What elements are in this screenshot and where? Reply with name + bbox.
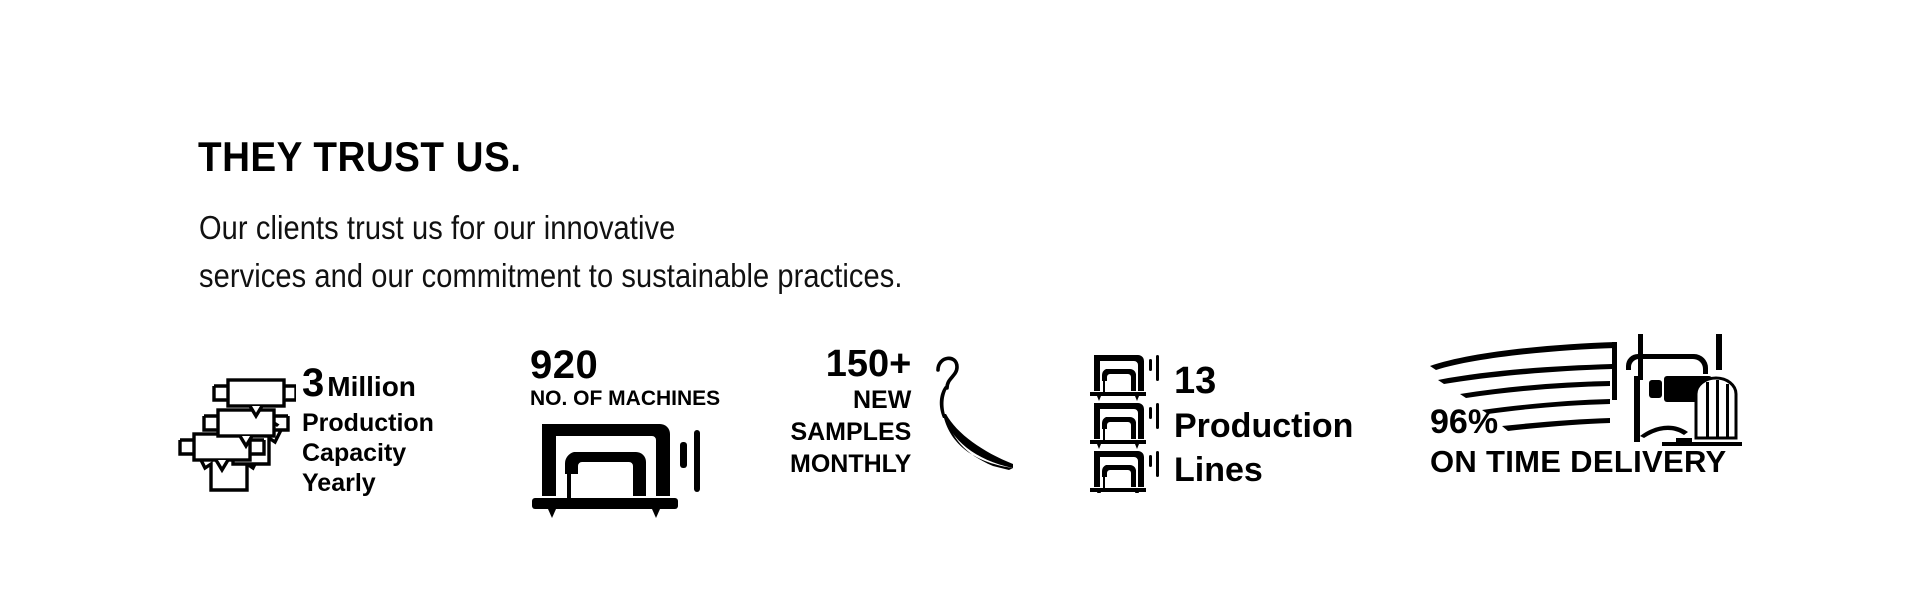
- stacked-tshirts-icon: [178, 358, 296, 503]
- stat-production-capacity-label-1: Production: [302, 408, 434, 438]
- clothes-hanger-icon: [905, 348, 1015, 478]
- stat-production-lines-label-2: Lines: [1174, 448, 1353, 492]
- stat-on-time-delivery: 96% ON TIME DELIVERY: [1430, 350, 1740, 510]
- stat-new-samples-monthly-value: 150+: [790, 344, 911, 384]
- stat-number-of-machines: 920 NO. OF MACHINES: [530, 344, 720, 504]
- stat-production-lines-value: 13: [1174, 358, 1353, 404]
- subcopy-line-2: services and our commitment to sustainab…: [199, 252, 903, 300]
- stat-on-time-delivery-text: 96% ON TIME DELIVERY: [1430, 402, 1726, 482]
- stat-number-of-machines-value: 920: [530, 344, 598, 386]
- stat-production-capacity-value: 3: [302, 361, 324, 405]
- stat-production-capacity-label-2: Capacity: [302, 438, 434, 468]
- stat-production-capacity-text: 3Million Production Capacity Yearly: [302, 362, 434, 498]
- sewing-machine-outline-icon: [1090, 353, 1162, 498]
- stats-strip: 3Million Production Capacity Yearly 920 …: [0, 350, 1920, 540]
- stat-on-time-delivery-label: ON TIME DELIVERY: [1430, 442, 1726, 482]
- trust-section: THEY TRUST US. Our clients trust us for …: [0, 0, 1920, 600]
- section-subcopy: Our clients trust us for our innovative …: [199, 204, 903, 300]
- stat-on-time-delivery-value: 96%: [1430, 402, 1726, 442]
- stat-production-capacity-unit: Million: [327, 371, 416, 402]
- stat-production-lines: 13 Production Lines: [1090, 345, 1353, 505]
- stat-new-samples-monthly: 150+ NEW SAMPLES MONTHLY: [790, 344, 1015, 504]
- stat-new-samples-monthly-label-2: SAMPLES: [790, 416, 911, 448]
- subcopy-line-1: Our clients trust us for our innovative: [199, 204, 903, 252]
- stat-production-capacity: 3Million Production Capacity Yearly: [178, 350, 434, 510]
- stat-production-capacity-value-row: 3Million: [302, 361, 416, 405]
- stat-production-lines-label-1: Production: [1174, 404, 1353, 448]
- stat-new-samples-monthly-label-3: MONTHLY: [790, 448, 911, 480]
- page-title: THEY TRUST US.: [198, 136, 521, 178]
- stat-new-samples-monthly-text: 150+ NEW SAMPLES MONTHLY: [790, 344, 911, 480]
- stat-new-samples-monthly-label-1: NEW: [790, 384, 911, 416]
- stat-production-capacity-label-3: Yearly: [302, 468, 434, 498]
- stat-number-of-machines-label: NO. OF MACHINES: [530, 386, 720, 412]
- sewing-machine-icon: [530, 418, 710, 523]
- stat-production-lines-text: 13 Production Lines: [1174, 358, 1353, 492]
